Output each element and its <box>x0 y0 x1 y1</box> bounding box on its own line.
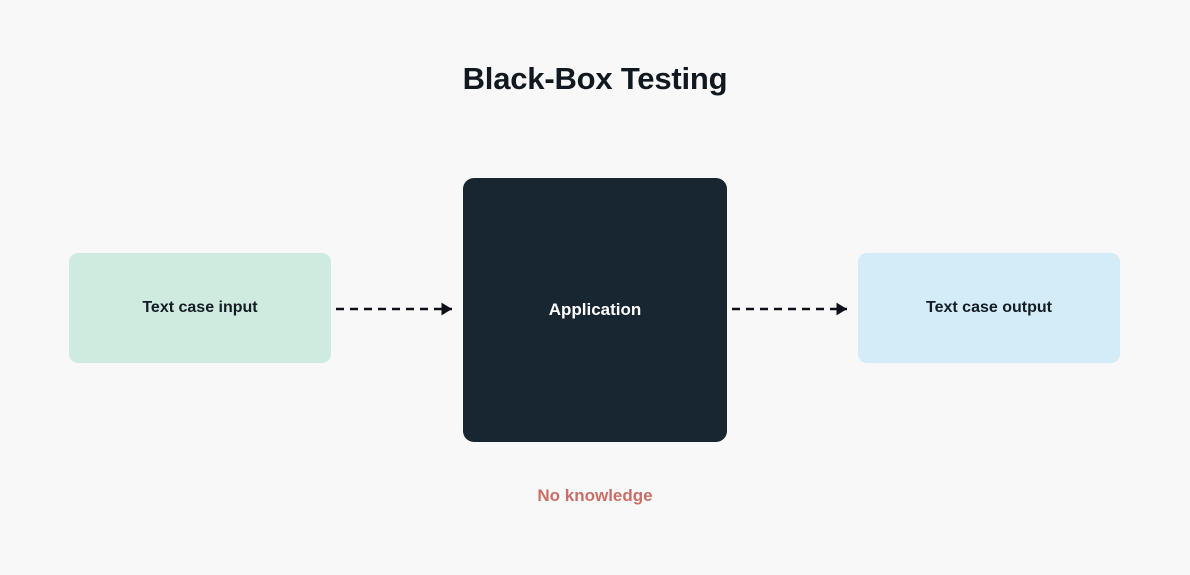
node-text-case-input[interactable]: Text case input <box>69 253 331 363</box>
node-label-application: Application <box>549 300 642 320</box>
annotation-no-knowledge: No knowledge <box>463 484 727 508</box>
diagram-canvas: Black-Box Testing Text case input Applic… <box>0 0 1190 575</box>
node-text-case-output[interactable]: Text case output <box>858 253 1120 363</box>
page-title: Black-Box Testing <box>0 57 1190 101</box>
node-application[interactable]: Application <box>463 178 727 442</box>
node-label-input: Text case input <box>142 298 257 318</box>
node-label-output: Text case output <box>926 298 1052 318</box>
